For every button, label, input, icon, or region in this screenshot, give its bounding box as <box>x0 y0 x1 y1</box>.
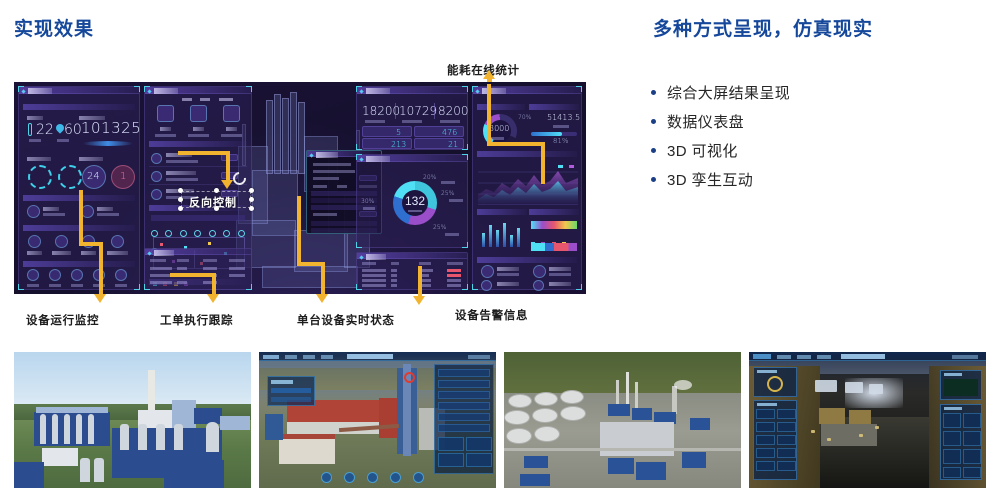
metric-circle <box>481 265 494 278</box>
energy-percent-value: 81% <box>553 138 569 145</box>
device-icon <box>27 205 40 218</box>
grid-icon <box>55 235 68 248</box>
pressure-underline <box>83 141 133 146</box>
color-scale-bar <box>531 221 577 229</box>
pipe-rack <box>36 407 108 413</box>
process-block <box>524 456 548 468</box>
road <box>504 448 741 451</box>
status-ring-2 <box>58 165 82 189</box>
callout-line-energy-vert <box>487 84 491 146</box>
thumb-cement-plant-digital-twin[interactable] <box>259 352 496 488</box>
storage-tank <box>506 428 532 444</box>
storage-tank <box>508 394 532 408</box>
metric-circle <box>481 280 492 291</box>
donut-slice-label-4: 20% <box>423 175 436 181</box>
office-building <box>279 438 335 464</box>
donut-slice-label-1: 30% <box>361 199 374 205</box>
storage-tank <box>532 408 558 423</box>
silo <box>40 414 46 444</box>
callout-line-3-drop <box>321 262 325 296</box>
list-item: 3D 可视化 <box>651 136 981 165</box>
process-block <box>608 458 634 474</box>
bullet-dot-icon <box>651 90 656 95</box>
storage-tank <box>80 458 90 482</box>
right-camera-panel[interactable] <box>940 370 982 400</box>
window-panel <box>815 380 837 392</box>
callout-line-2-horiz <box>170 273 216 277</box>
selection-handle[interactable] <box>249 206 254 211</box>
grid-icon <box>28 235 41 248</box>
right-grid-panel[interactable] <box>940 404 982 480</box>
bullet-dot-icon <box>651 148 656 153</box>
callout-arrow-2 <box>207 294 219 303</box>
left-data-panel[interactable] <box>753 400 797 480</box>
callout-line-2-drop <box>212 273 216 296</box>
flare-stack <box>672 386 677 414</box>
warehouse <box>42 448 78 466</box>
caption-device-alarm-info: 设备告警信息 <box>455 307 528 323</box>
sub-stat-card: 213 <box>362 138 412 149</box>
caption-single-device-status: 单台设备实时状态 <box>297 312 395 328</box>
bottom-tool-bar[interactable] <box>259 470 496 488</box>
page-title-right: 多种方式呈现，仿真现实 <box>653 14 873 41</box>
plant-block <box>14 462 44 488</box>
floor-light <box>827 438 831 441</box>
floor-light <box>859 434 863 437</box>
env-count-a-value: 24 <box>87 172 100 182</box>
reactor-vessel <box>206 422 219 452</box>
callout-arrow-1 <box>94 294 106 303</box>
alert-marker-icon[interactable] <box>404 372 415 383</box>
env-count-b-value: 1 <box>120 172 126 182</box>
list-item: 数据仪表盘 <box>651 107 981 136</box>
blue-unit <box>265 414 283 440</box>
bullet-label: 3D 孪生互动 <box>667 169 753 190</box>
grid-icon <box>111 235 124 248</box>
overview-card-icon <box>190 105 207 122</box>
sub-stat-card: 476 <box>414 126 464 137</box>
callout-line-energy-horiz <box>487 142 545 146</box>
annotation-reverse-control-label: 反向控制 <box>189 194 237 210</box>
gauge-value: 3000 <box>489 125 509 133</box>
process-block <box>636 462 666 480</box>
metric-circle <box>533 280 544 291</box>
env-humidity-value: 60 <box>64 123 82 137</box>
selection-handle[interactable] <box>178 188 183 193</box>
gauge-pct-label: 70% <box>518 115 531 121</box>
thumbnail-strip <box>14 352 986 488</box>
top-navigation-bar[interactable] <box>259 352 496 361</box>
storage-tank <box>534 392 558 406</box>
top-navigation-bar[interactable] <box>749 352 986 361</box>
floor-light <box>875 426 879 429</box>
left-info-panel[interactable] <box>267 376 315 406</box>
kiln-building <box>379 398 397 438</box>
thermometer-icon <box>28 123 32 136</box>
toolbar-icon <box>321 472 332 483</box>
metric-circle <box>533 265 546 278</box>
panel-device-detail-table <box>144 248 252 290</box>
thumb-refinery-aerial-view[interactable] <box>504 352 741 488</box>
selection-handle[interactable] <box>249 188 254 193</box>
panel-overview-stats: 18200 10729 8200 5 476 213 21 <box>356 86 468 150</box>
pallet-stack <box>819 408 845 424</box>
selection-handle[interactable] <box>214 188 219 193</box>
callout-line-1-drop <box>99 242 103 296</box>
table-row[interactable] <box>149 266 247 271</box>
callout-arrow-revctl <box>221 180 233 189</box>
page-title-left: 实现效果 <box>14 14 94 41</box>
stat-sub-4: 21 <box>448 141 458 149</box>
sub-stat-card: 5 <box>362 126 412 137</box>
toolbar-icon <box>344 472 355 483</box>
window-panel <box>869 384 883 394</box>
device-legend-strip <box>151 215 245 221</box>
stacked-scale-bar <box>531 243 577 251</box>
toolbar-icon <box>367 472 378 483</box>
callout-line-1-vert <box>79 190 83 246</box>
pallet-stack <box>849 410 871 424</box>
grid-icon <box>115 269 127 281</box>
callout-line-energy-drop <box>541 142 545 184</box>
energy-progress-track <box>531 132 577 136</box>
stat-sub-2: 476 <box>442 129 457 137</box>
process-block <box>682 452 706 468</box>
toolbar-icon <box>390 472 401 483</box>
selection-handle[interactable] <box>214 206 219 211</box>
storage-tank <box>560 406 586 421</box>
storage-tank <box>560 390 584 404</box>
donut-center-value: 132 <box>405 194 425 208</box>
silo <box>52 414 58 444</box>
slide-root: 实现效果 多种方式呈现，仿真现实 综合大屏结果呈现 数据仪表盘 3D 可视化 3… <box>0 0 1000 498</box>
stat-metric-3: 8200 <box>438 105 469 117</box>
feature-bullet-list: 综合大屏结果呈现 数据仪表盘 3D 可视化 3D 孪生互动 <box>651 78 981 194</box>
caption-device-monitoring: 设备运行监控 <box>26 312 99 328</box>
storage-tank <box>534 426 560 442</box>
tree-line <box>504 352 741 397</box>
reactor-vessel <box>120 424 129 450</box>
status-ring-1 <box>28 165 52 189</box>
bullet-label: 综合大屏结果呈现 <box>667 82 790 103</box>
overview-card-icon <box>157 105 174 122</box>
callout-arrow-3 <box>316 294 328 303</box>
process-block <box>690 418 710 430</box>
panel-alarm-events <box>356 252 468 290</box>
chart-legend <box>558 155 574 173</box>
ramp <box>821 424 877 446</box>
list-item: 3D 孪生互动 <box>651 165 981 194</box>
donut-slice-label-3: 25% <box>433 225 446 231</box>
table-row[interactable] <box>149 280 247 285</box>
panel-alarm-distribution: 132 30% 25% 25% 20% <box>356 154 468 248</box>
bullet-label: 数据仪表盘 <box>667 111 744 132</box>
process-block <box>608 404 630 416</box>
office-roof <box>279 434 335 439</box>
alarm-donut-chart: 132 <box>393 181 437 225</box>
callout-arrow-4 <box>413 296 425 305</box>
plant-block <box>220 416 250 430</box>
silo <box>64 414 70 444</box>
grid-icon <box>71 269 83 281</box>
toolbar-icon <box>413 472 424 483</box>
floor-light <box>811 430 815 433</box>
reactor-vessel <box>138 424 147 450</box>
selection-handle[interactable] <box>178 206 183 211</box>
thumb-chemical-plant-3d-render[interactable] <box>14 352 251 488</box>
process-block <box>632 408 652 420</box>
callout-line-revctl-vert <box>226 151 230 181</box>
energy-total-value: 51413.5 <box>547 114 580 122</box>
storage-tank <box>504 410 530 425</box>
thumb-warehouse-interior-twin[interactable] <box>749 352 986 488</box>
panel-env-monitor: 22 60 101325 24 1 <box>18 86 140 290</box>
callout-line-4-vert <box>418 266 422 298</box>
silo <box>88 414 94 444</box>
grid-icon <box>27 269 39 281</box>
energy-progress-fill <box>531 132 562 136</box>
callout-line-3-vert <box>297 196 301 266</box>
grid-icon <box>49 269 61 281</box>
bullet-dot-icon <box>651 177 656 182</box>
callout-line-revctl-horiz <box>178 151 230 155</box>
selection-handle[interactable] <box>178 197 183 202</box>
dashboard-status-chips <box>182 88 233 106</box>
stat-metric-2: 10729 <box>399 105 437 117</box>
overview-card-icon <box>223 105 240 122</box>
bullet-dot-icon <box>651 119 656 124</box>
cooling-tower-plume <box>674 380 692 390</box>
reactor-vessel <box>174 424 183 450</box>
plant-building <box>194 408 222 424</box>
selection-handle[interactable] <box>249 197 254 202</box>
storage-tank <box>94 458 104 482</box>
caption-work-order-tracking: 工单执行跟踪 <box>160 312 233 328</box>
list-item: 综合大屏结果呈现 <box>651 78 981 107</box>
plant-block <box>164 460 224 488</box>
table-row[interactable] <box>361 283 463 288</box>
stat-sub-3: 213 <box>391 141 406 149</box>
stat-sub-1: 5 <box>396 129 401 137</box>
reactor-vessel <box>156 424 165 450</box>
left-gauge-panel[interactable] <box>753 367 797 397</box>
right-data-panel[interactable] <box>434 364 494 474</box>
process-block <box>520 474 550 486</box>
window-panel <box>845 382 863 393</box>
env-pressure-value: 101325 <box>81 121 141 136</box>
sub-stat-card: 21 <box>414 138 464 149</box>
bullet-label: 3D 可视化 <box>667 140 738 161</box>
donut-slice-label-2: 25% <box>441 191 454 197</box>
silo <box>76 414 82 444</box>
env-temperature-value: 22 <box>36 123 54 137</box>
energy-bar-chart <box>480 221 524 247</box>
